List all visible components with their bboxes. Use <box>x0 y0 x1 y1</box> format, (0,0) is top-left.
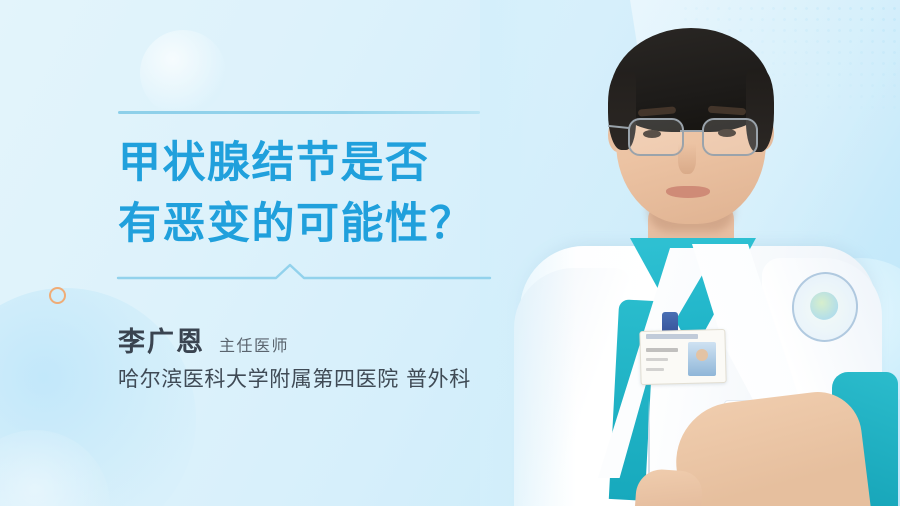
doctor-affiliation: 哈尔滨医科大学附属第四医院 普外科 <box>118 363 471 393</box>
badge-text-line-2 <box>646 358 668 361</box>
nose <box>678 140 696 174</box>
glasses-bridge <box>680 130 702 132</box>
doctor-name: 李广恩 <box>118 320 205 359</box>
doctor-identity: 李广恩 主任医师 <box>118 320 289 359</box>
doctor-rank: 主任医师 <box>219 332 289 356</box>
badge-text-line-1 <box>646 348 678 352</box>
video-cover: 甲状腺结节是否 有恶变的可能性？ 李广恩 主任医师 哈尔滨医科大学附属第四医院 … <box>0 0 900 506</box>
badge-text-line-3 <box>646 368 664 371</box>
doctor-portrait <box>480 0 900 506</box>
page-title: 甲状腺结节是否 有恶变的可能性？ <box>118 133 518 255</box>
glasses-lens-right <box>702 118 758 156</box>
divider-bottom <box>118 258 490 284</box>
mouth <box>666 186 710 198</box>
text-panel: 甲状腺结节是否 有恶变的可能性？ 李广恩 主任医师 哈尔滨医科大学附属第四医院 … <box>0 0 540 506</box>
badge-photo <box>688 342 716 376</box>
badge-header-line <box>646 334 698 339</box>
glasses-lens-left <box>628 118 684 156</box>
divider-top <box>118 111 480 114</box>
